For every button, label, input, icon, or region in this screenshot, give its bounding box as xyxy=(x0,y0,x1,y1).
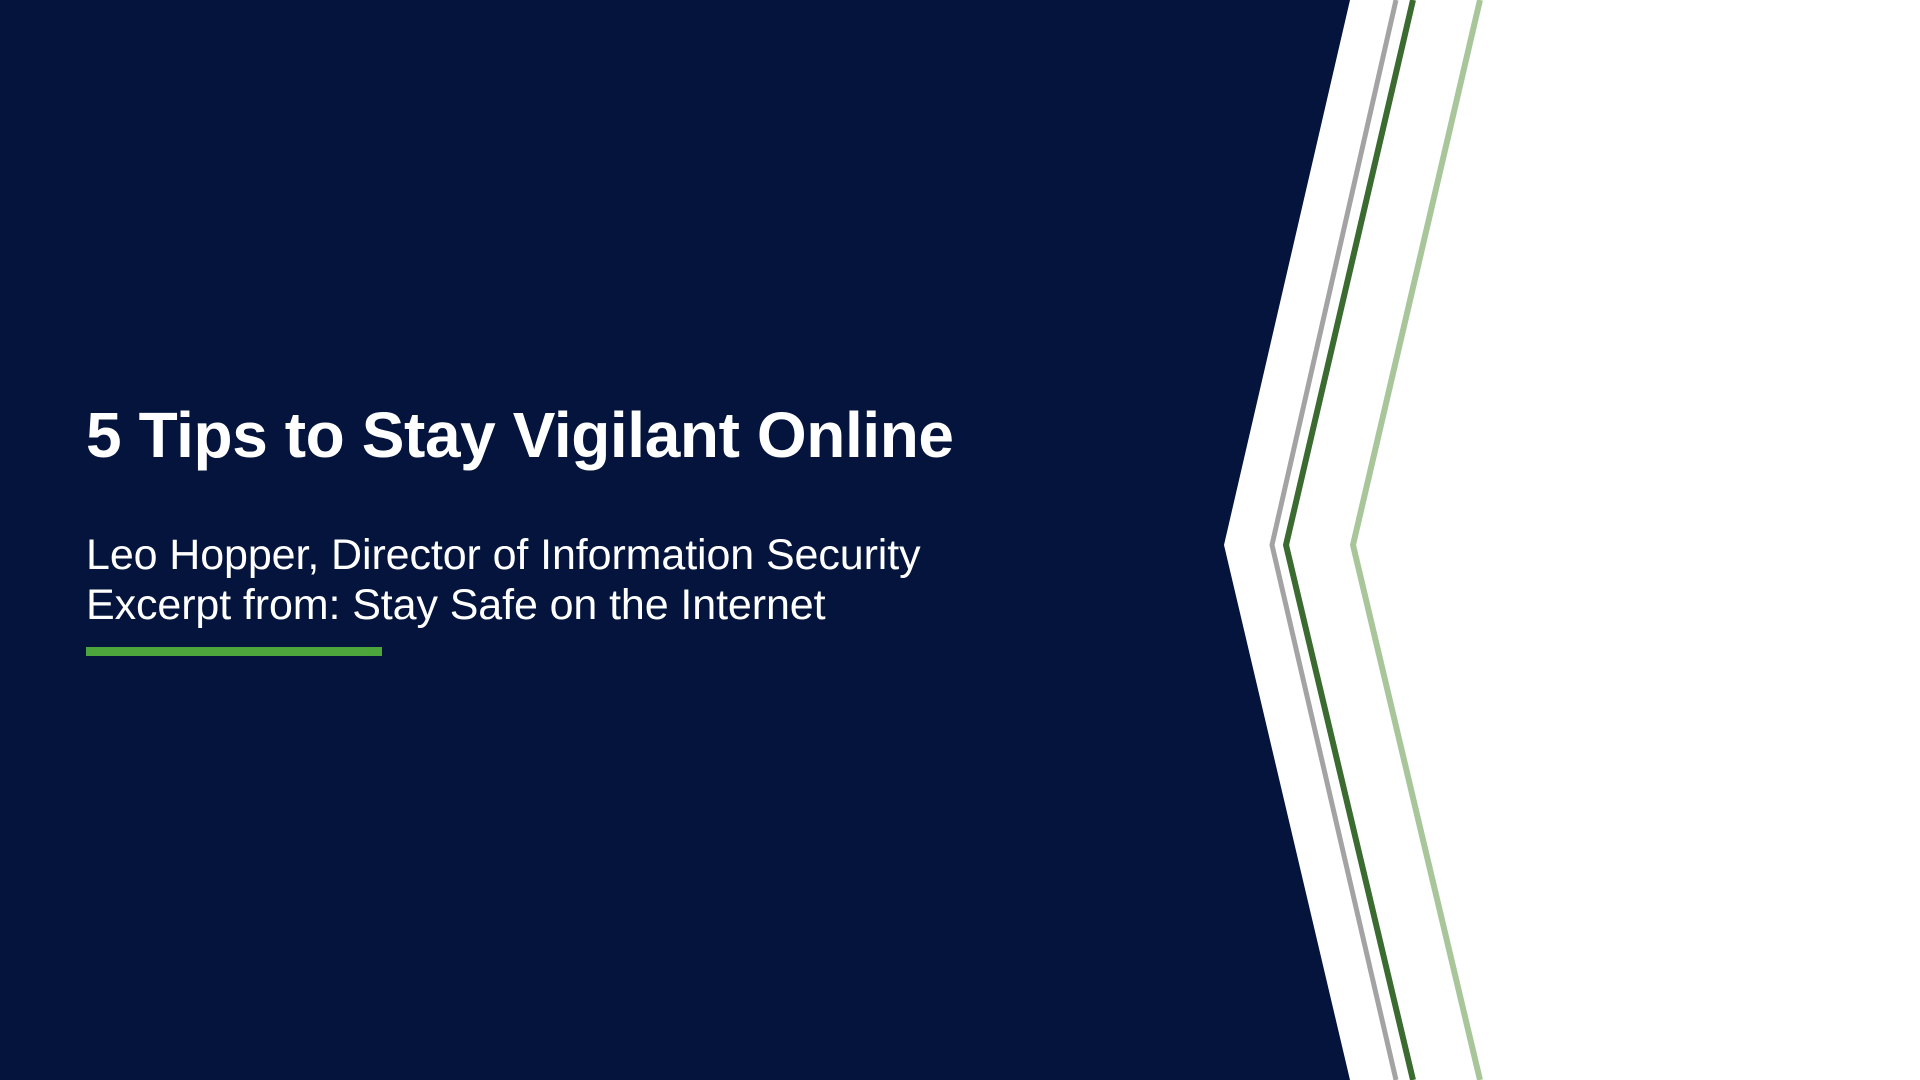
title-text-block: 5 Tips to Stay Vigilant Online Leo Hoppe… xyxy=(86,400,1266,656)
slide-canvas: 5 Tips to Stay Vigilant Online Leo Hoppe… xyxy=(0,0,1920,1080)
subtitle-group: Leo Hopper, Director of Information Secu… xyxy=(86,530,1266,631)
white-fill-region xyxy=(1269,0,1920,1080)
presenter-line: Leo Hopper, Director of Information Secu… xyxy=(86,530,1266,581)
page-title: 5 Tips to Stay Vigilant Online xyxy=(86,400,1266,472)
source-line: Excerpt from: Stay Safe on the Internet xyxy=(86,580,1266,631)
green-accent-bar xyxy=(86,647,382,656)
